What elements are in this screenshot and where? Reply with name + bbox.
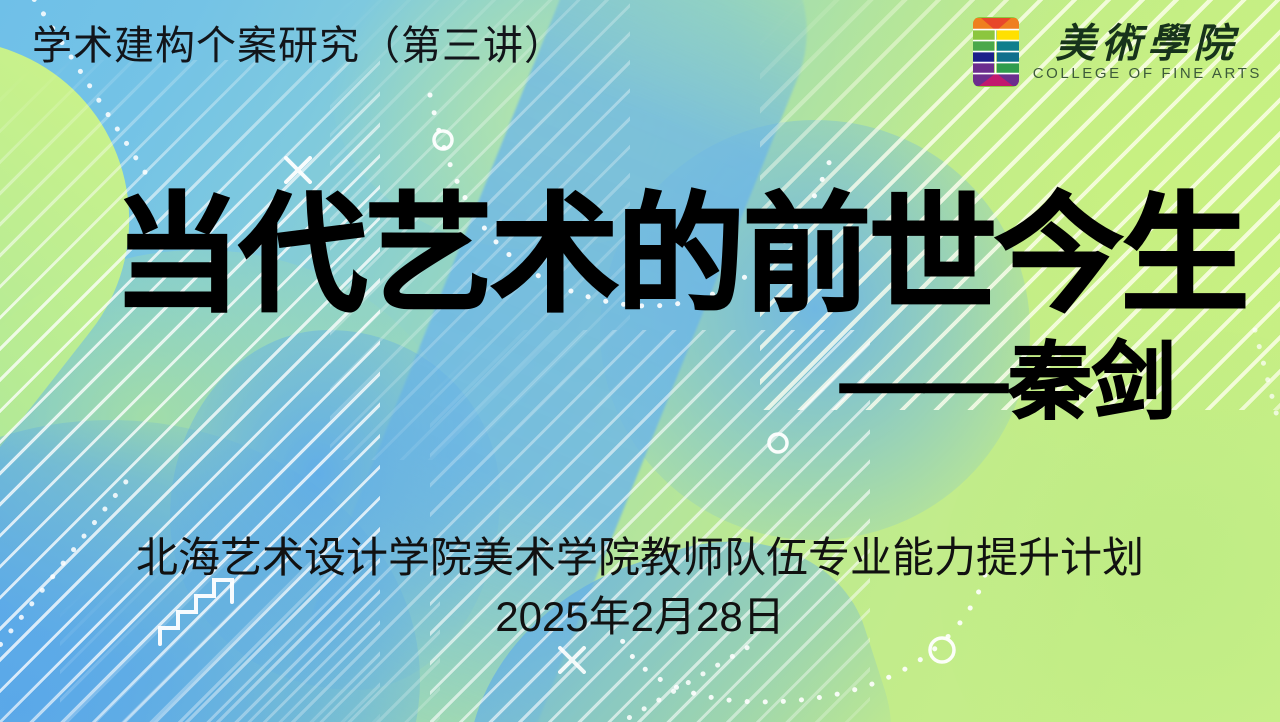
footer-organization: 北海艺术设计学院美术学院教师队伍专业能力提升计划	[0, 532, 1280, 585]
slide-author: ——秦剑	[840, 340, 1176, 424]
presentation-slide: 学术建构个案研究（第三讲）	[0, 0, 1280, 722]
slide-footer: 北海艺术设计学院美术学院教师队伍专业能力提升计划 2025年2月28日	[0, 532, 1280, 643]
slide-kicker: 学术建构个案研究（第三讲）	[32, 26, 565, 66]
logo-mark-icon	[971, 16, 1021, 88]
logo-name-cn: 美術學院	[1055, 24, 1239, 64]
slide-main-title: 当代艺术的前世今生	[113, 192, 1247, 320]
logo-text-block: 美術學院 COLLEGE OF FINE ARTS	[1033, 24, 1262, 81]
college-logo: 美術學院 COLLEGE OF FINE ARTS	[971, 16, 1262, 88]
logo-name-en: COLLEGE OF FINE ARTS	[1033, 66, 1262, 81]
footer-date: 2025年2月28日	[0, 591, 1280, 644]
slide-content: 学术建构个案研究（第三讲）	[0, 0, 1280, 722]
